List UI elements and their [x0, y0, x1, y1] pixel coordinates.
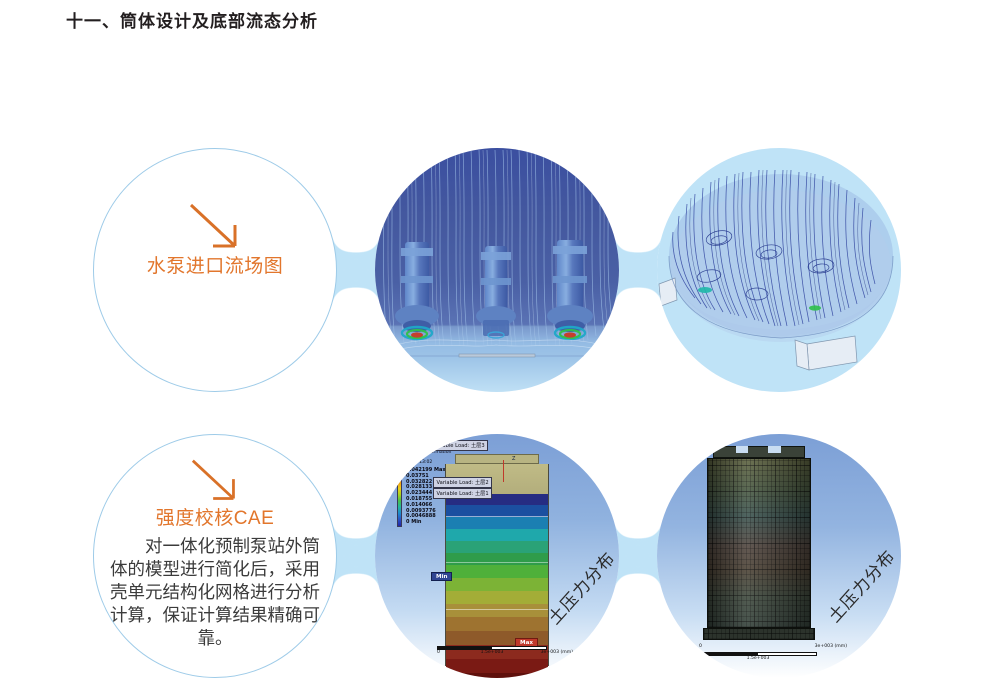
- scale-ruler-right: 0 1.5e+003 3e+003 (mm): [699, 652, 817, 663]
- mesh-cylinder: [705, 446, 813, 640]
- mesh-shell: [707, 458, 811, 628]
- variable-load-tag-3: Variable Load: 土层3: [429, 440, 488, 451]
- page-title: 十一、筒体设计及底部流态分析: [66, 7, 318, 32]
- streamline-overlay: [375, 148, 619, 392]
- figure-soil-pressure-mesh: 0 1.5e+003 3e+003 (mm) 土压力分布: [657, 434, 901, 678]
- figure-pump-inlet-streamline: [375, 148, 619, 392]
- mesh-top-cap: [713, 446, 805, 458]
- ruler-mid: 1.5e+003: [481, 650, 504, 655]
- diagonal-down-right-arrow-icon: [185, 201, 245, 253]
- ruler-start-right: 0: [699, 644, 702, 649]
- ruler-end: 3e+003 (mm): [541, 650, 573, 655]
- variable-load-tag-2: Variable Load: 土层2: [433, 477, 492, 488]
- diagonal-down-right-arrow-icon-2: [186, 457, 244, 505]
- callout-heading-cae: 强度校核CAE: [94, 507, 336, 531]
- scale-ruler-left: 0 1.5e+003 3e+003 (mm): [437, 646, 547, 657]
- axis-marker: [503, 460, 504, 482]
- callout-heading-pump-flow: 水泵进口流场图: [94, 255, 336, 279]
- mesh-base-flange: [703, 628, 815, 640]
- ruler-end-right: 3e+003 (mm): [815, 644, 847, 649]
- callout-circle-cae: 强度校核CAE 对一体化预制泵站外筒体的模型进行简化后，采用壳单元结构化网格进行…: [93, 434, 337, 678]
- cylinder-top-cap: [455, 454, 539, 464]
- min-marker: Min: [431, 572, 452, 581]
- figure-soil-pressure-contour: A: Static Structural 土压力分布 Type: Total D…: [375, 434, 619, 678]
- variable-load-tag-1: Variable Load: 土层1: [433, 488, 492, 499]
- callout-body-cae: 对一体化预制泵站外筒体的模型进行简化后，采用壳单元结构化网格进行分析计算，保证计…: [94, 535, 336, 650]
- ruler-mid-right: 1.5e+003: [747, 656, 770, 661]
- axis-label-z: Z: [512, 456, 515, 462]
- ruler-start: 0: [437, 650, 440, 655]
- cae-color-scale: [397, 469, 402, 527]
- slide-canvas: 十一、筒体设计及底部流态分析 水泵进: [0, 0, 996, 681]
- tank-streamline-overlay: [657, 148, 901, 392]
- figure-tank-streamline: [657, 148, 901, 392]
- callout-circle-pump-flow: 水泵进口流场图: [93, 148, 337, 392]
